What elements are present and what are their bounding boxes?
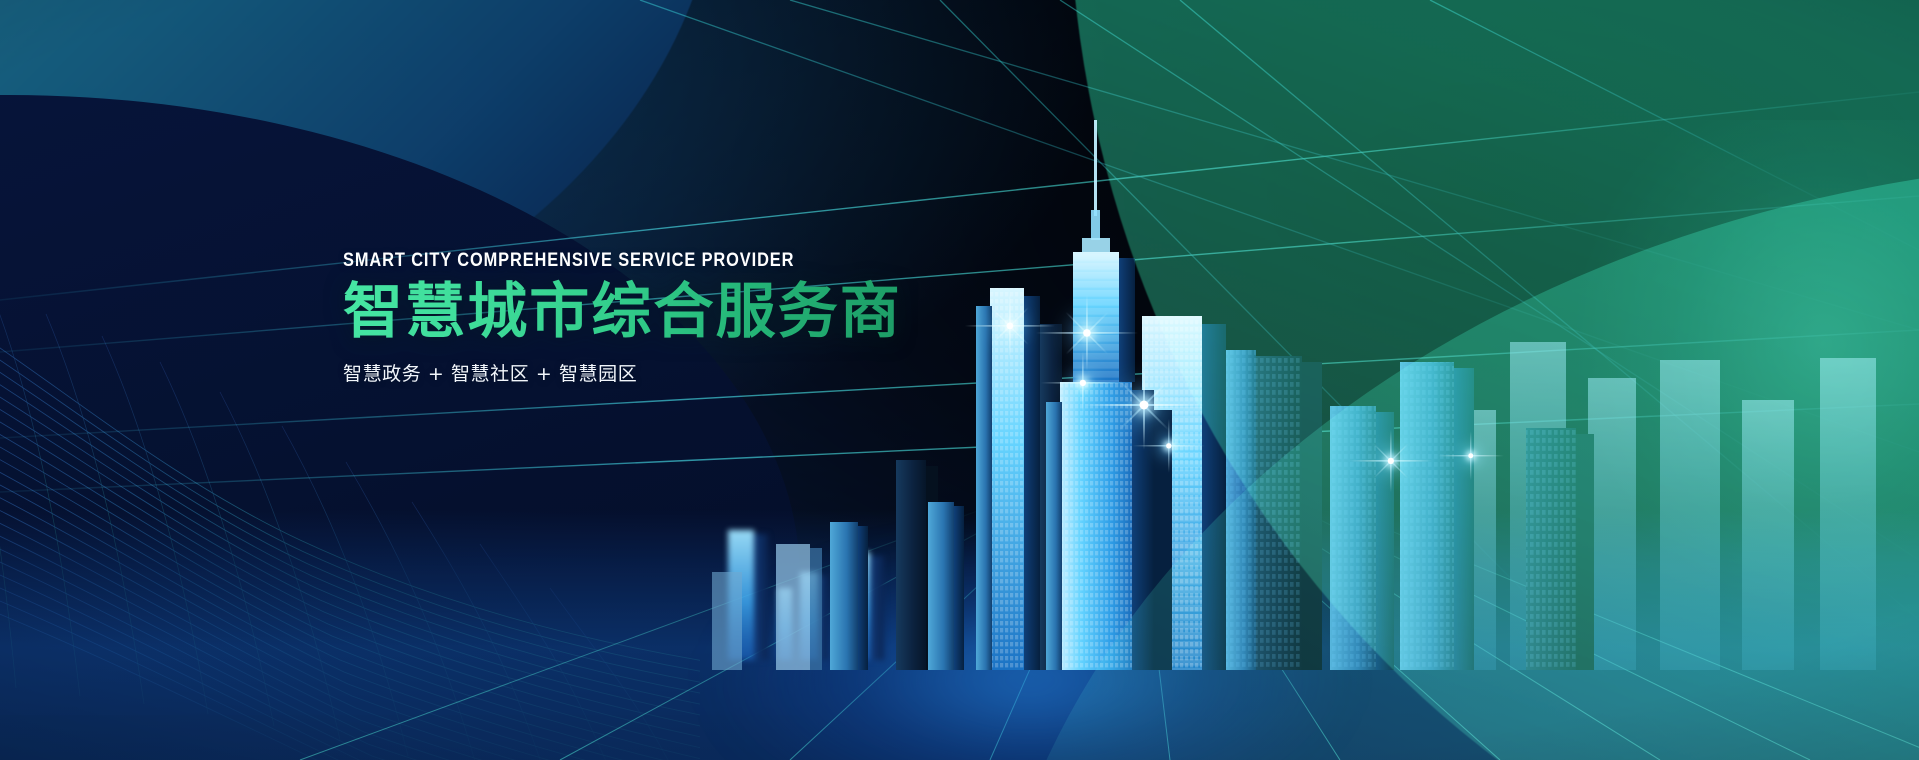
hero-headline: 智慧城市综合服务商 [343,279,902,346]
hero-eyebrow-english: SMART CITY COMPREHENSIVE SERVICE PROVIDE… [343,250,812,271]
hero-subline: 智慧政务 + 智慧社区 + 智慧园区 [343,359,902,386]
smart-city-hero-banner: SMART CITY COMPREHENSIVE SERVICE PROVIDE… [0,0,1919,760]
green-edge-glow [1459,120,1919,680]
hero-copy-block: SMART CITY COMPREHENSIVE SERVICE PROVIDE… [343,250,902,386]
